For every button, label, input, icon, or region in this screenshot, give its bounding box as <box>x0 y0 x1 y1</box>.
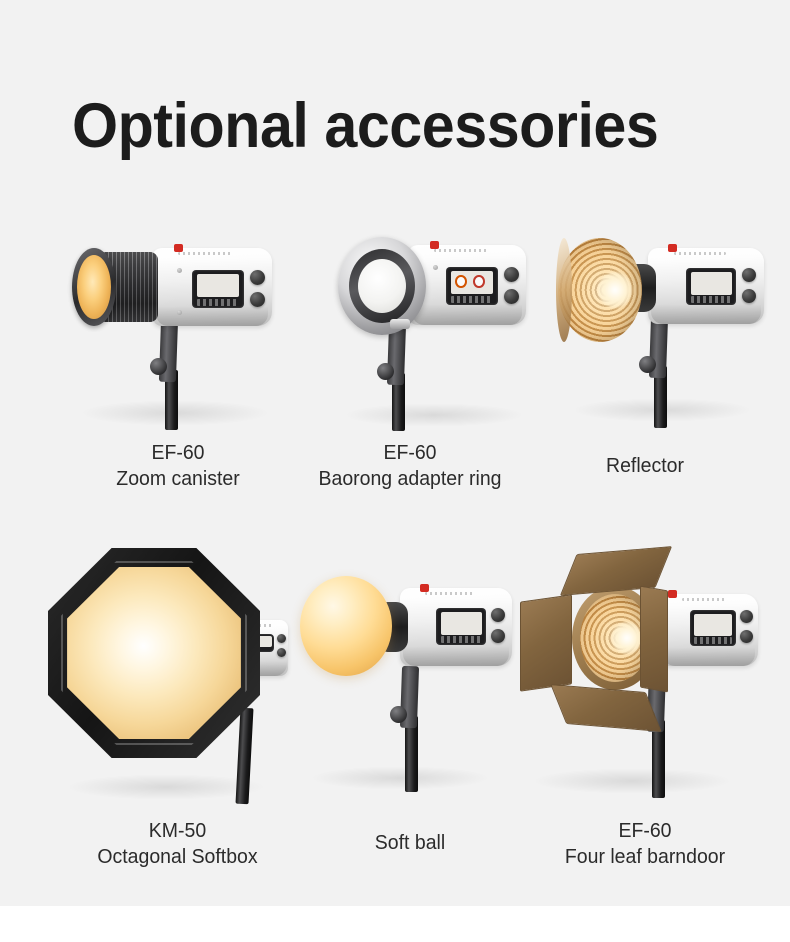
product-name: Four leaf barndoor <box>550 844 740 870</box>
content-canvas: Optional accessories <box>0 0 790 906</box>
tilt-knob[interactable] <box>377 363 394 380</box>
control-display[interactable] <box>690 610 736 646</box>
control-display[interactable] <box>192 270 244 308</box>
display-readout <box>197 274 240 298</box>
product-name: Soft ball <box>334 830 486 856</box>
light-head <box>70 240 275 340</box>
display-readout <box>694 614 732 636</box>
caption-four-leaf-barndoor: EF-60 Four leaf barndoor <box>550 818 740 870</box>
control-knob-top[interactable] <box>504 267 519 282</box>
light-head <box>330 235 530 345</box>
control-knob-top[interactable] <box>277 634 286 643</box>
light-head <box>300 570 515 700</box>
control-display[interactable] <box>436 608 486 645</box>
lens-glow <box>77 255 111 319</box>
body-screw-top <box>433 265 438 270</box>
caption-zoom-canister: EF-60 Zoom canister <box>83 440 273 492</box>
barndoor-flap-bottom[interactable] <box>550 684 662 732</box>
power-indicator <box>430 241 439 249</box>
tilt-knob[interactable] <box>390 706 407 723</box>
product-zoom-canister[interactable] <box>70 240 290 430</box>
control-display[interactable] <box>686 268 736 305</box>
product-shadow <box>344 403 524 427</box>
product-shadow <box>532 768 732 794</box>
product-name: Octagonal Softbox <box>80 844 275 870</box>
control-knob-bottom[interactable] <box>740 630 753 643</box>
body-screw-bottom <box>177 310 182 315</box>
product-model: EF-60 <box>550 818 740 844</box>
accessories-page: Optional accessories <box>0 0 790 942</box>
control-knob-bottom[interactable] <box>504 289 519 304</box>
light-head <box>512 548 757 728</box>
power-indicator <box>174 244 183 252</box>
display-dial-left <box>455 275 467 289</box>
display-brandmark <box>441 636 482 643</box>
control-knob-top[interactable] <box>491 608 505 622</box>
control-knob-top[interactable] <box>740 610 753 623</box>
caption-octagonal-softbox: KM-50 Octagonal Softbox <box>80 818 275 870</box>
caption-baorong-adapter-ring: EF-60 Baorong adapter ring <box>301 440 520 492</box>
softbox-rim <box>61 561 248 746</box>
display-brandmark <box>694 637 732 643</box>
display-readout <box>441 612 482 635</box>
display-brandmark <box>691 296 732 303</box>
reflector-light-core <box>598 272 632 308</box>
softbox <box>48 548 260 758</box>
diffusion-lens <box>358 259 406 313</box>
display-readout <box>691 272 732 295</box>
product-name: Zoom canister <box>83 466 273 492</box>
caption-reflector: Reflector <box>569 453 721 479</box>
lens-bezel <box>72 248 116 326</box>
barndoor-flap-right[interactable] <box>640 586 668 693</box>
soft-ball-diffuser <box>300 576 392 676</box>
control-knob-bottom[interactable] <box>277 648 286 657</box>
display-brandmark <box>451 296 494 303</box>
control-knob-top[interactable] <box>250 270 265 285</box>
display-dial-right <box>473 275 485 289</box>
power-indicator <box>668 590 677 598</box>
body-screw-top <box>177 268 182 273</box>
power-indicator <box>420 584 429 592</box>
product-shadow <box>310 766 490 790</box>
control-knob-bottom[interactable] <box>250 292 265 307</box>
product-octagonal-softbox[interactable] <box>48 548 308 798</box>
barndoor-light-core <box>612 622 642 654</box>
product-name: Reflector <box>569 453 721 479</box>
tilt-knob[interactable] <box>150 358 167 375</box>
product-model: EF-60 <box>301 440 520 466</box>
product-reflector[interactable] <box>562 238 772 428</box>
product-soft-ball[interactable] <box>300 570 520 790</box>
control-display[interactable] <box>446 267 498 305</box>
display-readout <box>451 271 494 295</box>
control-knob-top[interactable] <box>742 268 756 282</box>
caption-soft-ball: Soft ball <box>334 830 486 856</box>
tilt-knob[interactable] <box>639 356 656 373</box>
barndoor-flap-left[interactable] <box>520 594 572 691</box>
product-model: EF-60 <box>83 440 273 466</box>
product-name: Baorong adapter ring <box>301 466 520 492</box>
bowens-mount-ring <box>338 237 426 335</box>
reflector-rim <box>556 238 572 342</box>
mount-release-tab[interactable] <box>390 319 410 329</box>
product-baorong-adapter-ring[interactable] <box>330 235 540 430</box>
product-model: KM-50 <box>80 818 275 844</box>
light-head <box>562 238 767 343</box>
control-knob-bottom[interactable] <box>491 629 505 643</box>
page-title: Optional accessories <box>72 90 692 162</box>
control-knob-bottom[interactable] <box>742 289 756 303</box>
power-indicator <box>668 244 677 252</box>
display-brandmark <box>197 299 240 306</box>
product-four-leaf-barndoor[interactable] <box>512 548 762 798</box>
